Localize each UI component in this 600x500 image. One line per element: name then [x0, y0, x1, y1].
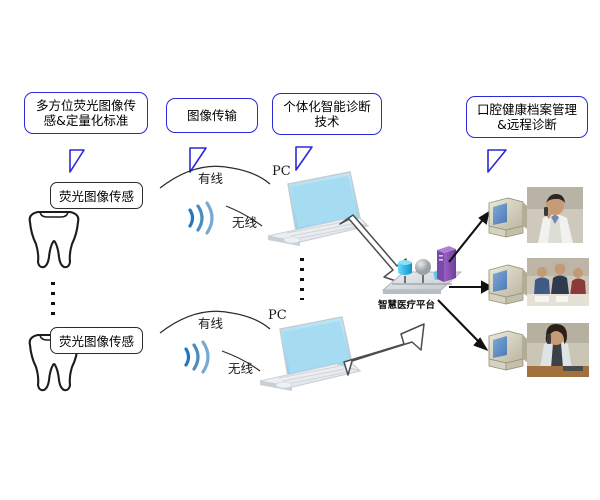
callout-multi-angle-sensing[interactable]: 多方位荧光图像传感&定量化标准	[24, 92, 148, 134]
sensor-box-bottom[interactable]: 荧光图像传感	[50, 327, 143, 354]
label-wired-bottom: 有线	[198, 313, 223, 332]
tooth-top	[30, 212, 79, 267]
endpoint-computer-3	[489, 331, 527, 370]
callout-label: 图像传输	[187, 108, 237, 123]
arrow-to-endpoint-2	[449, 282, 491, 292]
label-wireless-bottom: 无线	[228, 358, 253, 377]
platform-server-icon	[437, 246, 456, 282]
laptop-bottom	[260, 317, 360, 391]
endpoint-computer-2	[489, 265, 527, 304]
diagram-canvas: 多方位荧光图像传感&定量化标准 图像传输 个体化智能诊断技术 口腔健康档案管理&…	[0, 0, 600, 500]
wifi-icon-top	[190, 203, 212, 233]
photo-team-meeting-art	[527, 258, 589, 306]
sensor-label: 荧光图像传感	[59, 334, 134, 349]
callout-intelligent-diagnosis[interactable]: 个体化智能诊断技术	[272, 93, 382, 135]
label-wireless-top: 无线	[232, 212, 257, 231]
label-pc-top: PC	[272, 164, 291, 179]
label-smart-medical-platform: 智慧医疗平台	[378, 297, 435, 311]
label-pc-bottom: PC	[268, 308, 287, 323]
callout-image-transmission[interactable]: 图像传输	[166, 98, 258, 133]
laptop-top	[268, 172, 368, 246]
arrow-to-endpoint-3	[438, 300, 486, 349]
sensor-box-top[interactable]: 荧光图像传感	[50, 182, 143, 209]
callout-health-records[interactable]: 口腔健康档案管理&远程诊断	[466, 96, 588, 138]
callout-label: 个体化智能诊断技术	[283, 99, 371, 129]
diagram-graphics	[0, 0, 600, 500]
callout-label: 口腔健康档案管理&远程诊断	[477, 102, 577, 132]
arrow-to-endpoint-1	[449, 213, 488, 262]
endpoint-computer-1	[489, 198, 527, 237]
label-wired-top: 有线	[198, 168, 223, 187]
wired-link-curves	[160, 166, 270, 333]
callout-label: 多方位荧光图像传感&定量化标准	[36, 98, 136, 128]
photo-doctor-on-phone-art	[527, 187, 583, 243]
photo-remote-consult-art	[527, 323, 589, 377]
sensor-label: 荧光图像传感	[59, 189, 134, 204]
wifi-icon-bottom	[186, 342, 208, 372]
